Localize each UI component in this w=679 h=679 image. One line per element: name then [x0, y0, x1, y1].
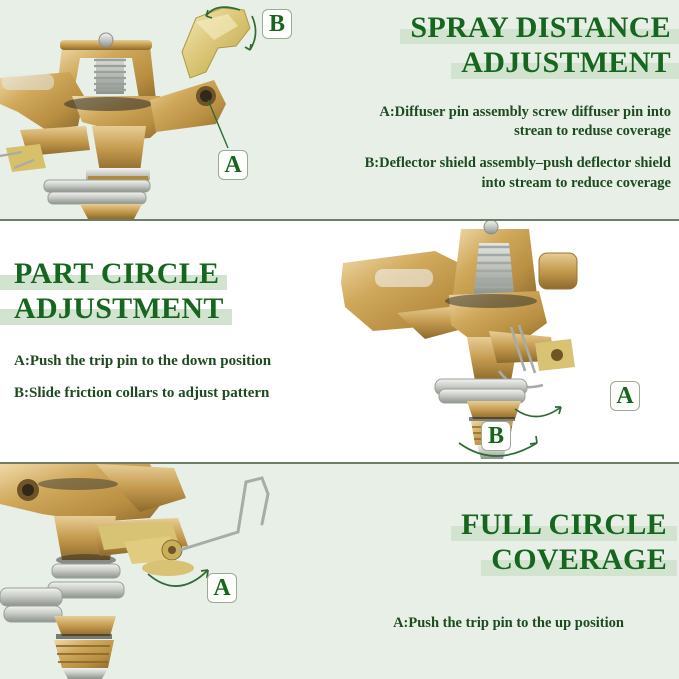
title-line: SPRAY DISTANCE	[410, 11, 671, 44]
infographic-sheet: A B SPRAY DISTANCE ADJUSTMENT A:Diffuser…	[0, 0, 679, 679]
panel-part-circle-text: PART CIRCLE ADJUSTMENT A:Push the trip p…	[0, 221, 339, 462]
curved-rotation-arrow-icon	[515, 407, 561, 417]
callout-label-b: B	[481, 421, 511, 451]
panel-part-circle: PART CIRCLE ADJUSTMENT A:Push the trip p…	[0, 221, 679, 462]
panel-part-circle-body-b: B:Slide friction collars to adjust patte…	[14, 383, 325, 403]
panel-full-circle-image: A	[0, 464, 340, 679]
panel-part-circle-title: PART CIRCLE ADJUSTMENT	[14, 257, 325, 327]
callout-label-a: A	[610, 381, 640, 411]
panel-spray-distance: A B SPRAY DISTANCE ADJUSTMENT A:Diffuser…	[0, 0, 679, 219]
callout-label-a: A	[218, 150, 248, 180]
panel-full-circle-body-a: A:Push the trip pin to the up position	[350, 614, 667, 633]
panel-full-circle-title: FULL CIRCLE COVERAGE	[350, 508, 667, 578]
title-line: ADJUSTMENT	[14, 292, 224, 325]
brass-impact-sprinkler-icon	[0, 464, 340, 679]
title-line: PART CIRCLE	[14, 257, 219, 290]
title-line: FULL CIRCLE	[461, 508, 667, 541]
panel-spray-distance-text: SPRAY DISTANCE ADJUSTMENT A:Diffuser pin…	[340, 0, 679, 219]
panel-full-circle-text: FULL CIRCLE COVERAGE A:Push the trip pin…	[340, 464, 679, 679]
panel-spray-distance-body-b: B:Deflector shield assembly–push deflect…	[350, 154, 671, 193]
title-line: ADJUSTMENT	[461, 46, 671, 79]
panel-spray-distance-body-a: A:Diffuser pin assembly screw diffuser p…	[350, 103, 671, 142]
title-line: COVERAGE	[491, 543, 667, 576]
callout-label-a: A	[207, 573, 237, 603]
panel-part-circle-body-a: A:Push the trip pin to the down position	[14, 351, 325, 371]
panel-spray-distance-image: A B	[0, 0, 340, 219]
panel-full-circle: A FULL CIRCLE COVERAGE A:Push the trip p…	[0, 464, 679, 679]
callout-label-b: B	[262, 9, 292, 39]
panel-spray-distance-title: SPRAY DISTANCE ADJUSTMENT	[350, 11, 671, 81]
panel-part-circle-image: A B	[339, 221, 679, 462]
